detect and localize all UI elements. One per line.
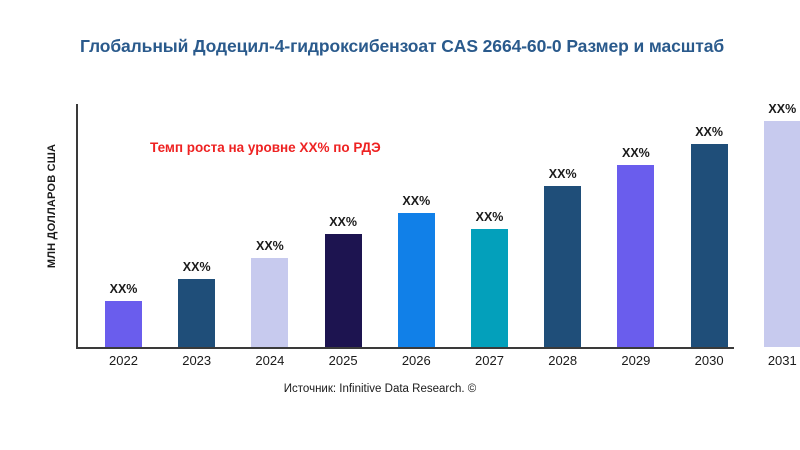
bar-value-label-2022: XX% (110, 282, 138, 296)
page-title: Глобальный Додецил-4-гидроксибензоат CAS… (80, 36, 800, 57)
bar-group[interactable]: XX% (325, 234, 362, 347)
bar-value-label-2023: XX% (183, 260, 211, 274)
bar-group[interactable]: XX% (471, 229, 508, 347)
x-tick-label-2030: 2030 (677, 353, 741, 368)
bar-group[interactable]: XX% (178, 279, 215, 347)
bar-2028[interactable] (544, 186, 581, 347)
bar-value-label-2027: XX% (476, 210, 504, 224)
bar-group[interactable]: XX% (544, 186, 581, 347)
chart-figure: Глобальный Додецил-4-гидроксибензоат CAS… (0, 0, 800, 450)
bar-2029[interactable] (617, 165, 654, 347)
bar-group[interactable]: XX% (251, 258, 288, 347)
growth-rate-annotation: Темп роста на уровне XX% по РДЭ (150, 140, 381, 155)
x-tick-label-2022: 2022 (92, 353, 156, 368)
x-tick-label-2024: 2024 (238, 353, 302, 368)
x-axis-line (76, 347, 734, 349)
bar-group[interactable]: XX% (764, 121, 800, 347)
bar-group[interactable]: XX% (105, 301, 142, 347)
y-axis-line (76, 104, 78, 349)
bar-value-label-2031: XX% (768, 102, 796, 116)
bar-value-label-2025: XX% (329, 215, 357, 229)
bar-2026[interactable] (398, 213, 435, 347)
bar-value-label-2028: XX% (549, 167, 577, 181)
bar-2024[interactable] (251, 258, 288, 347)
source-caption: Источник: Infinitive Data Research. © (0, 383, 760, 395)
x-tick-label-2029: 2029 (604, 353, 668, 368)
x-tick-label-2025: 2025 (311, 353, 375, 368)
x-tick-label-2026: 2026 (384, 353, 448, 368)
bar-value-label-2026: XX% (402, 194, 430, 208)
bar-2031[interactable] (764, 121, 800, 347)
y-axis-title: МЛН ДОЛЛАРОВ США (46, 56, 58, 356)
x-tick-label-2027: 2027 (458, 353, 522, 368)
bar-2030[interactable] (691, 144, 728, 347)
x-tick-label-2023: 2023 (165, 353, 229, 368)
bar-group[interactable]: XX% (398, 213, 435, 347)
bar-2022[interactable] (105, 301, 142, 347)
bar-2023[interactable] (178, 279, 215, 347)
bar-value-label-2030: XX% (695, 125, 723, 139)
bar-group[interactable]: XX% (617, 165, 654, 347)
bar-value-label-2024: XX% (256, 239, 284, 253)
bar-value-label-2029: XX% (622, 146, 650, 160)
bar-2027[interactable] (471, 229, 508, 347)
bar-group[interactable]: XX% (691, 144, 728, 347)
x-tick-label-2031: 2031 (750, 353, 800, 368)
bar-2025[interactable] (325, 234, 362, 347)
x-tick-label-2028: 2028 (531, 353, 595, 368)
